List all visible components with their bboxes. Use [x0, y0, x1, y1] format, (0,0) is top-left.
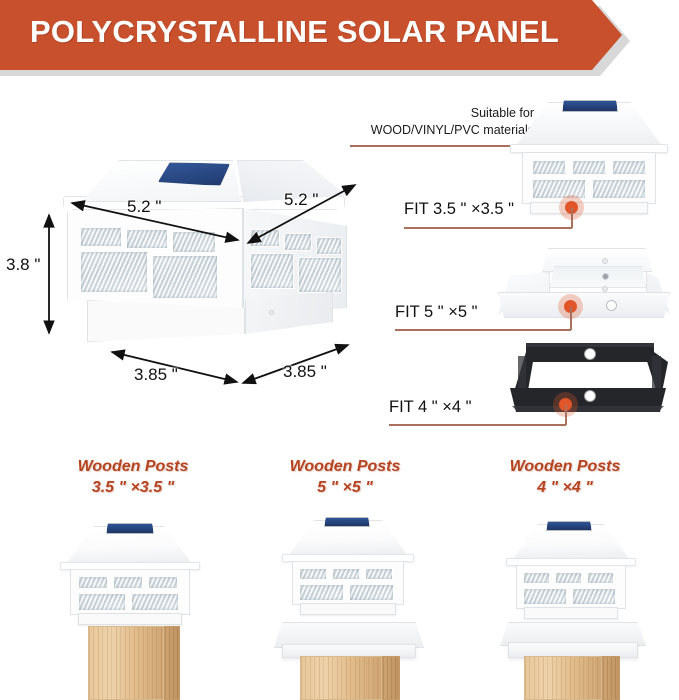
post-label-3-line1: Wooden Posts: [470, 456, 660, 477]
lamp-body: [522, 152, 656, 204]
glass-pane: [523, 588, 567, 605]
glass-pane: [332, 568, 360, 580]
solar-panel: [106, 523, 154, 534]
glass-pane: [113, 576, 143, 589]
solar-panel: [546, 521, 592, 531]
glass-pane: [284, 233, 312, 251]
glass-pane: [78, 576, 108, 589]
leader-vert-fit-3-5: [571, 208, 573, 228]
glass-pane: [80, 251, 148, 293]
lamp-body: [70, 569, 190, 615]
post-label-2: Wooden Posts 5 " ×5 ": [250, 456, 440, 498]
post-label-2-line1: Wooden Posts: [250, 456, 440, 477]
frame-front-foot: [512, 406, 664, 412]
leader-line-fit-5: [395, 329, 571, 331]
post-assembly-3: [486, 516, 656, 700]
lamp-body-left: [67, 208, 243, 316]
screw-hole: [602, 273, 609, 280]
screw-hole: [584, 348, 596, 360]
leader-line-fit-3-5: [404, 227, 572, 229]
solar-panel: [158, 162, 230, 186]
glass-pane: [250, 253, 294, 289]
wooden-post-3-side: [602, 656, 620, 700]
lamp-base: [300, 603, 396, 615]
frame-rear-lip: [526, 343, 654, 347]
wooden-post-1-side: [164, 626, 180, 700]
glass-pane: [80, 227, 122, 247]
lamp-base: [524, 607, 618, 619]
glass-pane: [612, 160, 646, 175]
lamp-base: [78, 613, 182, 625]
product-infographic: POLYCRYSTALLINE SOLAR PANEL: [0, 0, 679, 700]
fit-label-5: FIT 5 " ×5 ": [395, 303, 477, 322]
glass-pane: [532, 179, 586, 199]
glass-pane: [572, 160, 606, 175]
screw-hole: [602, 258, 608, 264]
glass-pane: [349, 584, 394, 601]
part-solar-post-cap-light: [508, 98, 670, 213]
screw-hole: [606, 300, 617, 311]
post-assembly-1: [48, 518, 220, 700]
glass-pane: [523, 572, 550, 584]
screw-hole: [584, 390, 596, 402]
post-label-1-line2: 3.5 " ×3.5 ": [38, 477, 228, 498]
post-assembly-2: [260, 512, 436, 700]
fit-label-3-5: FIT 3.5 " ×3.5 ": [404, 200, 514, 219]
glass-pane: [592, 179, 646, 199]
post-label-3-line2: 4 " ×4 ": [470, 477, 660, 498]
solar-panel: [324, 517, 370, 527]
solar-panel: [562, 100, 618, 112]
glass-pane: [316, 237, 342, 255]
plate-cavity: [550, 266, 646, 288]
glass-pane: [587, 572, 614, 584]
glass-pane: [126, 229, 168, 249]
leader-vert-fit-5: [570, 307, 572, 330]
post-label-2-line2: 5 " ×5 ": [250, 477, 440, 498]
glass-pane: [172, 231, 216, 253]
glass-pane: [299, 568, 327, 580]
glass-pane: [365, 568, 393, 580]
glass-pane: [78, 593, 126, 611]
glass-pane: [298, 257, 342, 293]
post-label-3: Wooden Posts 4 " ×4 ": [470, 456, 660, 498]
dimension-base-right: 3.85 ": [283, 362, 327, 382]
plate-front-face: [498, 292, 670, 318]
wooden-post-2-side: [382, 656, 400, 700]
fit-label-4: FIT 4 " ×4 ": [389, 398, 471, 417]
wooden-post-3: [524, 656, 602, 700]
glass-pane: [555, 572, 582, 584]
lamp-body: [292, 561, 404, 605]
glass-pane: [250, 229, 280, 247]
part-white-adapter-plate: [480, 248, 676, 336]
leader-vert-fit-4: [565, 405, 567, 425]
post-label-1: Wooden Posts 3.5 " ×3.5 ": [38, 456, 228, 498]
page-title: POLYCRYSTALLINE SOLAR PANEL: [30, 14, 559, 50]
glass-pane: [131, 593, 179, 611]
dimension-base-left: 3.85 ": [134, 365, 178, 385]
dimension-height: 3.8 ": [6, 255, 40, 275]
dimension-top-left: 5.2 ": [127, 197, 161, 217]
glass-pane: [532, 160, 566, 175]
post-label-1-line1: Wooden Posts: [38, 456, 228, 477]
wooden-post-2: [300, 656, 382, 700]
lamp-base: [530, 202, 648, 214]
dimension-top-right: 5.2 ": [284, 190, 318, 210]
glass-pane: [152, 255, 218, 299]
header-banner: POLYCRYSTALLINE SOLAR PANEL: [0, 0, 679, 80]
glass-pane: [572, 588, 616, 605]
screw-hole: [602, 286, 608, 292]
lamp-body: [516, 565, 626, 609]
wooden-post-1: [88, 626, 164, 700]
screw-hole: [269, 310, 274, 315]
leader-line-fit-4: [389, 424, 566, 426]
glass-pane: [299, 584, 344, 601]
part-black-adapter-frame: [500, 340, 676, 420]
glass-pane: [148, 576, 178, 589]
